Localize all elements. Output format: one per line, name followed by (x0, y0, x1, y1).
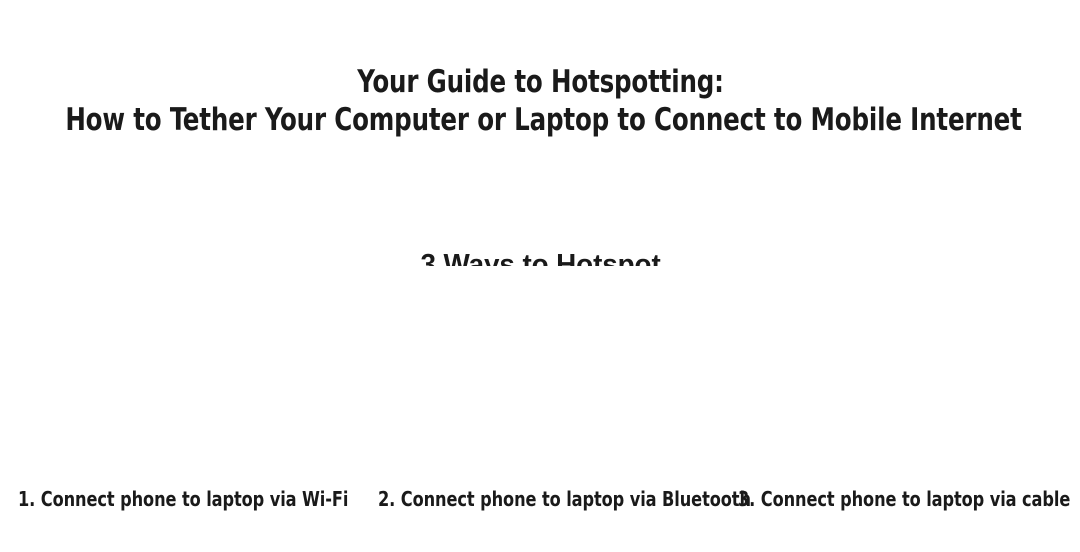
bluetooth-tethering-illustration (400, 266, 680, 466)
figure-caption-wifi: 1. Connect phone to laptop via Wi-Fi (18, 488, 342, 510)
article-page: Your Guide to Hotspotting: How to Tether… (0, 0, 1080, 552)
figure-caption-cable: 3. Connect phone to laptop via cable (738, 488, 1062, 510)
figure-caption-bluetooth: 2. Connect phone to laptop via Bluetooth (378, 488, 702, 510)
page-title-line-1: Your Guide to Hotspotting: (65, 63, 1015, 101)
figure-caption-row: 1. Connect phone to laptop via Wi-Fi 2. … (0, 488, 1080, 514)
figure-bluetooth (400, 266, 680, 466)
page-title-line-2: How to Tether Your Computer or Laptop to… (65, 101, 1015, 139)
figure-wifi (40, 266, 320, 466)
page-title: Your Guide to Hotspotting: How to Tether… (65, 63, 1015, 139)
wifi-tethering-illustration (40, 266, 320, 466)
figure-cable (760, 266, 1040, 466)
cable-tethering-illustration (760, 266, 1040, 466)
figure-gallery (0, 282, 1080, 482)
